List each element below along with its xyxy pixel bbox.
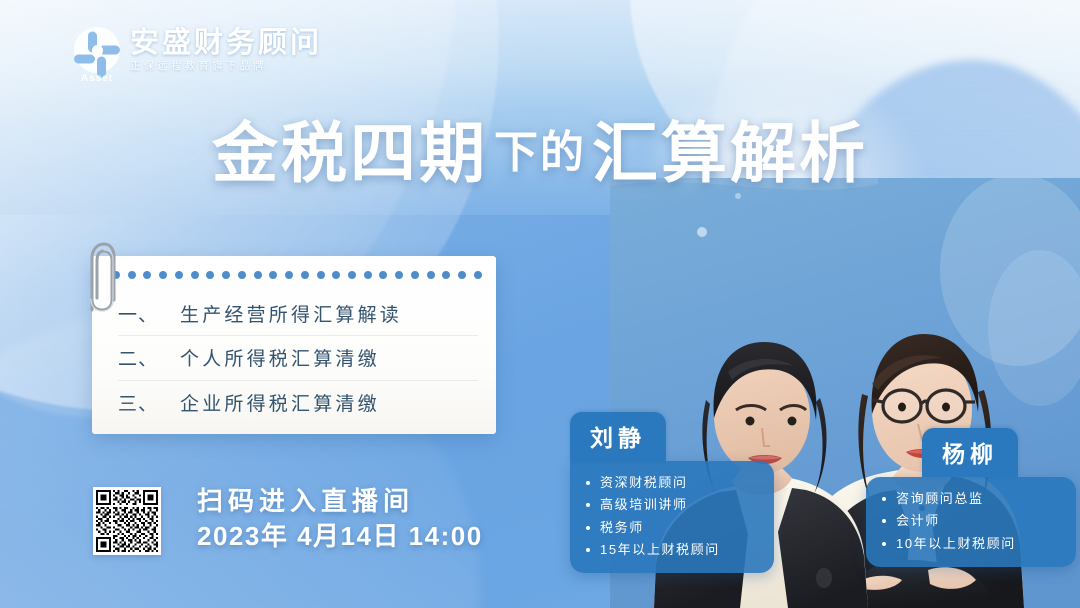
qr-code-icon[interactable]: [93, 487, 161, 555]
title-part-2: 下的: [494, 128, 586, 177]
card-dot-row: [112, 270, 482, 279]
title-part-3: 汇算解析: [592, 116, 868, 190]
agenda-item-1-label: 生产经营所得汇算解读: [180, 300, 478, 327]
agenda-list: 一、 生产经营所得汇算解读 二、 个人所得税汇算清缴 三、 企业所得税汇算清缴: [118, 292, 478, 424]
speaker-1-credential-3: 税务师: [584, 517, 758, 539]
speaker-card-1: 刘静 资深财税顾问 高级培训讲师 税务师 15年以上财税顾问: [570, 412, 774, 573]
speaker-2-credential-3: 10年以上财税顾问: [880, 533, 1060, 555]
speaker-1-name: 刘静: [570, 412, 666, 461]
page-title: 金税四期下的汇算解析: [0, 100, 1080, 196]
speaker-2-credential-2: 会计师: [880, 510, 1060, 532]
speaker-2-credential-1: 咨询顾问总监: [880, 488, 1060, 510]
speaker-card-2: 杨柳 咨询顾问总监 会计师 10年以上财税顾问: [866, 428, 1076, 567]
brand-subtitle: 正保远程教育旗下品牌: [130, 61, 322, 72]
scan-prompt-label: 扫码进入直播间: [197, 485, 483, 518]
agenda-item-1: 一、 生产经营所得汇算解读: [118, 292, 478, 336]
speaker-1-credential-1: 资深财税顾问: [584, 472, 758, 494]
speaker-2-name: 杨柳: [922, 428, 1018, 477]
title-part-1: 金税四期: [212, 116, 488, 190]
agenda-item-3-number: 三、: [118, 389, 180, 416]
speaker-1-credential-2: 高级培训讲师: [584, 494, 758, 516]
agenda-item-2: 二、 个人所得税汇算清缴: [118, 336, 478, 380]
brand-name: 安盛财务顾问: [130, 29, 322, 58]
logo-wordmark: Asset: [74, 73, 120, 84]
speaker-1-credentials: 资深财税顾问 高级培训讲师 税务师 15年以上财税顾问: [570, 461, 774, 573]
agenda-item-3: 三、 企业所得税汇算清缴: [118, 381, 478, 424]
live-stream-cta: 扫码进入直播间 2023年 4月14日 14:00: [197, 485, 483, 553]
promo-poster: Asset 安盛财务顾问 正保远程教育旗下品牌 金税四期下的汇算解析 一、 生产…: [0, 0, 1080, 608]
speaker-1-credential-4: 15年以上财税顾问: [584, 539, 758, 561]
agenda-item-3-label: 企业所得税汇算清缴: [180, 389, 478, 416]
agenda-item-2-number: 二、: [118, 344, 180, 371]
speaker-2-credentials: 咨询顾问总监 会计师 10年以上财税顾问: [866, 477, 1076, 567]
agenda-item-2-label: 个人所得税汇算清缴: [180, 344, 478, 371]
event-datetime-label: 2023年 4月14日 14:00: [197, 520, 483, 554]
brand-logo: Asset 安盛财务顾问 正保远程教育旗下品牌: [74, 27, 322, 73]
asset-pinwheel-icon: Asset: [74, 27, 120, 73]
agenda-item-1-number: 一、: [118, 300, 180, 327]
agenda-card: 一、 生产经营所得汇算解读 二、 个人所得税汇算清缴 三、 企业所得税汇算清缴: [92, 256, 496, 434]
